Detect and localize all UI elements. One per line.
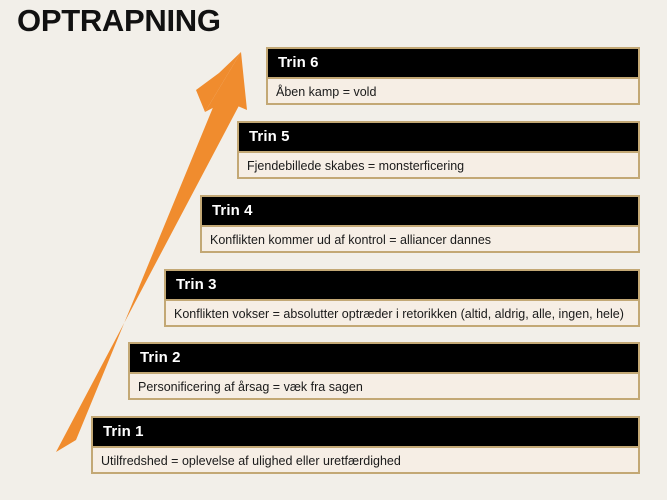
step-body: Åben kamp = vold — [268, 77, 638, 103]
step-header: Trin 2 — [130, 344, 638, 372]
step-box[interactable]: Trin 3 Konflikten vokser = absolutter op… — [164, 269, 640, 327]
step-body: Konflikten kommer ud af kontrol = allian… — [202, 225, 638, 251]
step-box[interactable]: Trin 6 Åben kamp = vold — [266, 47, 640, 105]
slide-canvas: OPTRAPNING Trin 6 Åben kamp = vold Trin … — [0, 0, 667, 500]
step-box[interactable]: Trin 2 Personificering af årsag = væk fr… — [128, 342, 640, 400]
step-header: Trin 1 — [93, 418, 638, 446]
step-box[interactable]: Trin 5 Fjendebillede skabes = monsterfic… — [237, 121, 640, 179]
step-header: Trin 5 — [239, 123, 638, 151]
step-body: Utilfredshed = oplevelse af ulighed elle… — [93, 446, 638, 472]
step-box[interactable]: Trin 4 Konflikten kommer ud af kontrol =… — [200, 195, 640, 253]
step-header: Trin 6 — [268, 49, 638, 77]
step-header: Trin 3 — [166, 271, 638, 299]
step-box[interactable]: Trin 1 Utilfredshed = oplevelse af uligh… — [91, 416, 640, 474]
step-body: Fjendebillede skabes = monsterficering — [239, 151, 638, 177]
page-title: OPTRAPNING — [17, 4, 221, 38]
step-header: Trin 4 — [202, 197, 638, 225]
step-body: Personificering af årsag = væk fra sagen — [130, 372, 638, 398]
step-body: Konflikten vokser = absolutter optræder … — [166, 299, 638, 325]
